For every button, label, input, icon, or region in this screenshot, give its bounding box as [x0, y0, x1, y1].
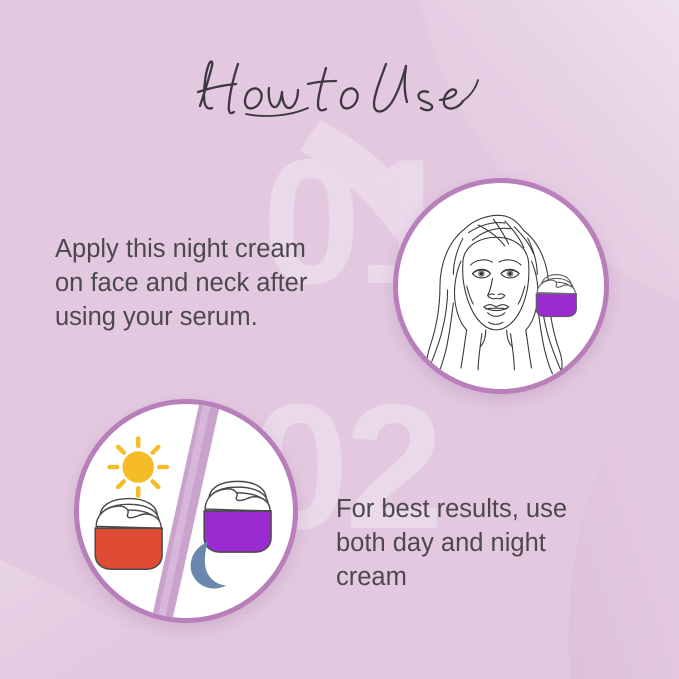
step-02-illustration-circle	[74, 399, 298, 623]
step-01-description: Apply this night cream on face and neck …	[55, 232, 365, 334]
step-02-description: For best results, use both day and night…	[336, 492, 636, 594]
day-night-split-circle	[79, 404, 293, 618]
day-cream-jar-icon	[95, 499, 162, 570]
page-title-script-lettering	[190, 52, 490, 124]
woman-face-icon	[398, 183, 604, 389]
night-cream-jar-icon	[204, 481, 271, 552]
night-cream-jar-icon	[536, 275, 576, 317]
page-title	[0, 52, 679, 124]
step-01-illustration-circle	[393, 178, 609, 394]
sun-icon	[110, 438, 167, 495]
